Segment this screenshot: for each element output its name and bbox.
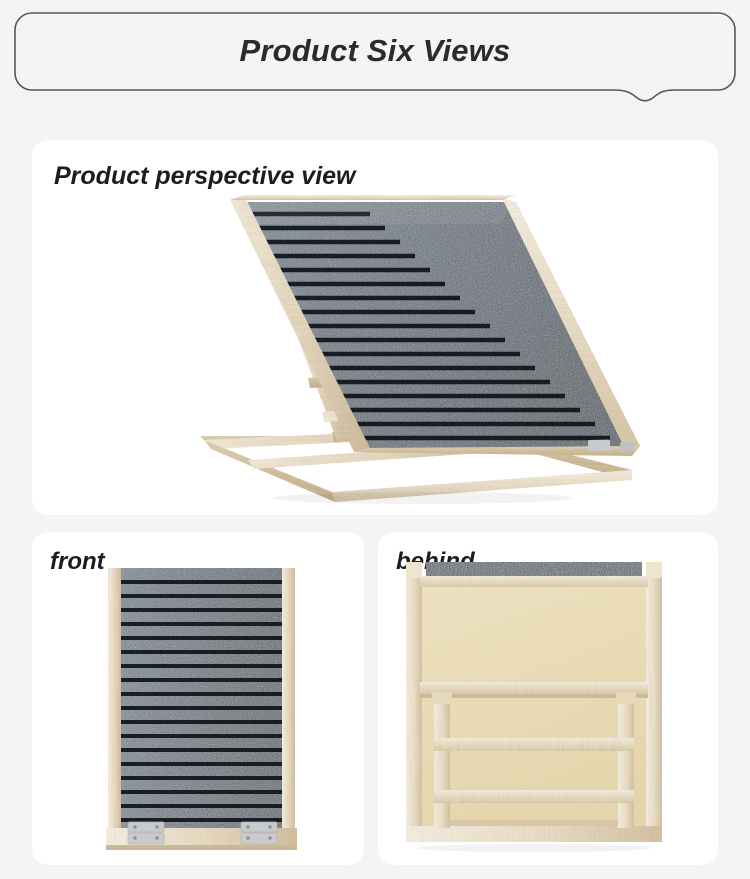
wooden-pet-ramp-perspective-photo (32, 140, 718, 515)
wooden-pet-ramp-front-photo (32, 532, 364, 865)
wooden-pet-ramp-behind-photo (378, 532, 718, 865)
panel-behind-view: behind (378, 532, 718, 865)
panel-perspective-view: Product perspective view (32, 140, 718, 515)
product-six-views-page: Product Six Views Product perspective vi… (0, 0, 750, 879)
panel-front-view: front (32, 532, 364, 865)
page-title: Product Six Views (14, 12, 736, 90)
header-speech-bubble: Product Six Views (14, 12, 736, 102)
